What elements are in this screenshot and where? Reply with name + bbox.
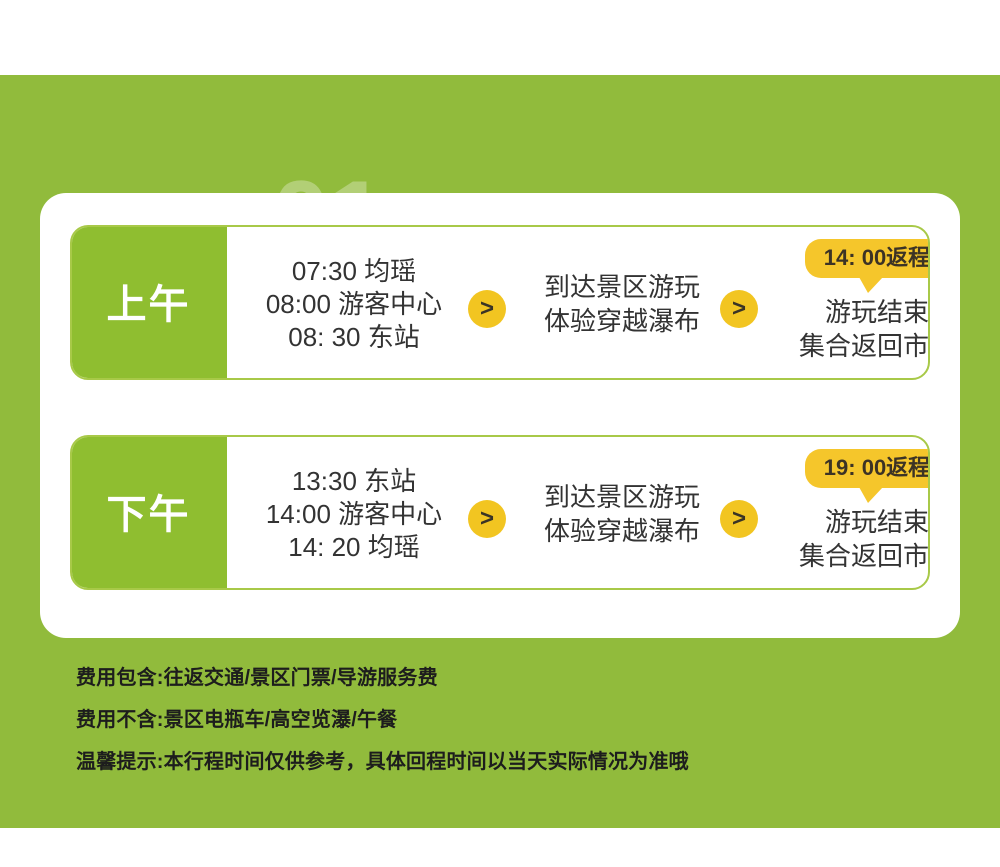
itinerary-card: 上午 07:30 均瑶 08:00 游客中心 08: 30 东站 > 到达景区游… <box>40 193 960 638</box>
departure-time-line: 08: 30 东站 <box>288 321 420 354</box>
note-excludes: 费用不含:景区电瓶车/高空览瀑/午餐 <box>76 710 956 730</box>
departure-time-line: 08:00 游客中心 <box>266 288 442 321</box>
table-row[interactable]: 上午 07:30 均瑶 08:00 游客中心 08: 30 东站 > 到达景区游… <box>70 225 930 380</box>
footer-notes: 费用包含:往返交通/景区门票/导游服务费 费用不含:景区电瓶车/高空览瀑/午餐 … <box>76 668 956 794</box>
departure-time-line: 07:30 均瑶 <box>292 255 416 288</box>
return-info-afternoon: 游玩结束 集合返回市区 <box>772 437 930 590</box>
activity-line: 体验穿越瀑布 <box>544 515 700 549</box>
departure-times-afternoon: 13:30 东站 14:00 游客中心 14: 20 均瑶 <box>229 437 479 590</box>
departure-time-line: 14: 20 均瑶 <box>288 531 420 564</box>
poster-header: 01 大瀑布半日游 <box>0 82 1000 177</box>
return-info-morning: 游玩结束 集合返回市区 <box>772 227 930 380</box>
chevron-right-icon: > <box>468 500 506 538</box>
activity-line: 到达景区游玩 <box>544 481 700 515</box>
return-line: 游玩结束 <box>825 296 929 330</box>
chevron-right-icon: > <box>720 500 758 538</box>
chevron-right-icon: > <box>720 290 758 328</box>
period-block-afternoon: 下午 <box>70 435 227 590</box>
return-line: 集合返回市区 <box>799 540 930 574</box>
table-row[interactable]: 下午 13:30 东站 14:00 游客中心 14: 20 均瑶 > 到达景区游… <box>70 435 930 590</box>
return-line: 游玩结束 <box>825 506 929 540</box>
departure-time-line: 14:00 游客中心 <box>266 498 442 531</box>
departure-time-line: 13:30 东站 <box>292 465 416 498</box>
period-label: 上午 <box>107 285 191 325</box>
period-label: 下午 <box>107 495 191 535</box>
activity-afternoon: 到达景区游玩 体验穿越瀑布 <box>512 437 732 590</box>
note-includes: 费用包含:往返交通/景区门票/导游服务费 <box>76 668 956 688</box>
chevron-right-icon: > <box>468 290 506 328</box>
period-block-morning: 上午 <box>70 225 227 380</box>
activity-morning: 到达景区游玩 体验穿越瀑布 <box>512 227 732 380</box>
activity-line: 到达景区游玩 <box>544 271 700 305</box>
return-line: 集合返回市区 <box>799 330 930 364</box>
activity-line: 体验穿越瀑布 <box>544 305 700 339</box>
departure-times-morning: 07:30 均瑶 08:00 游客中心 08: 30 东站 <box>229 227 479 380</box>
note-reminder: 温馨提示:本行程时间仅供参考，具体回程时间以当天实际情况为准哦 <box>76 752 956 772</box>
itinerary-poster: 01 大瀑布半日游 上午 07:30 均瑶 08:00 游客中心 08: 30 … <box>0 0 1000 867</box>
